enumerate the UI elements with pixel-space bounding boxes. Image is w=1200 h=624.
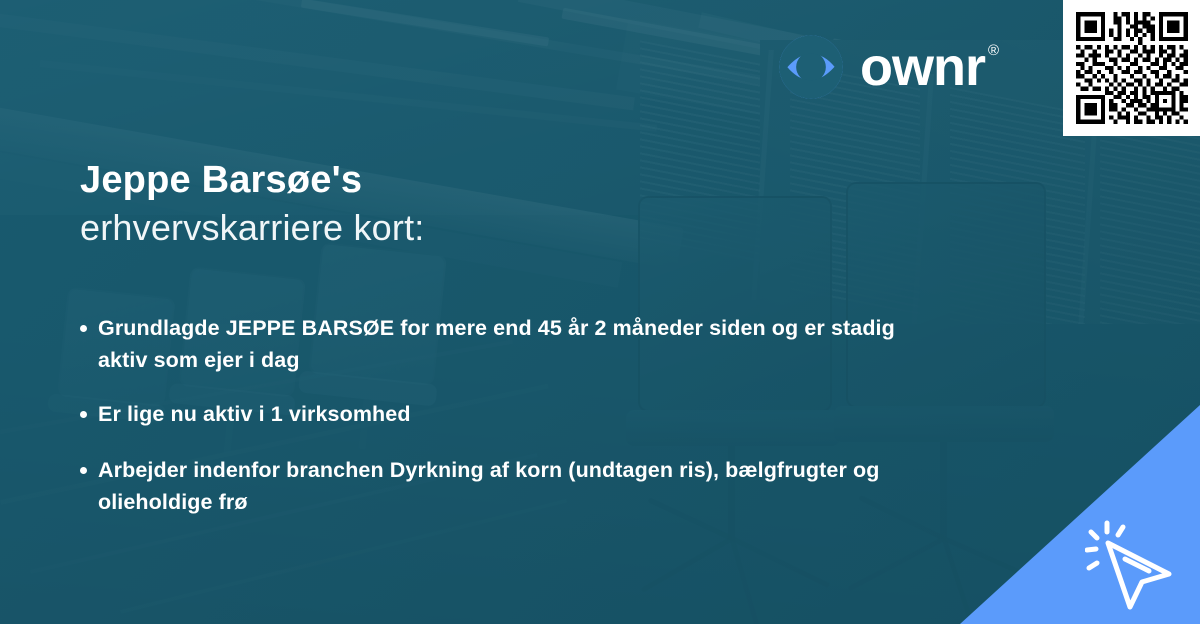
qr-code-icon	[1072, 8, 1192, 128]
business-card-banner: ownr ®	[0, 0, 1200, 624]
bullet-dot-icon	[80, 467, 87, 474]
click-cursor-icon	[1085, 512, 1193, 620]
title-line-1: Jeppe Barsøe's	[80, 156, 860, 204]
title-line-2: erhvervskarriere kort:	[80, 204, 860, 252]
list-item-label: Grundlagde JEPPE BARSØE for mere end 45 …	[98, 312, 928, 376]
ownr-swirl-circle-icon	[778, 34, 844, 100]
list-item-label: Arbejder indenfor branchen Dyrkning af k…	[98, 454, 928, 518]
page-title: Jeppe Barsøe's erhvervskarriere kort:	[80, 156, 860, 252]
career-summary-list: Grundlagde JEPPE BARSØE for mere end 45 …	[80, 312, 960, 540]
ownr-logo[interactable]: ownr ®	[778, 34, 999, 100]
list-item: Arbejder indenfor branchen Dyrkning af k…	[80, 454, 960, 518]
list-item: Grundlagde JEPPE BARSØE for mere end 45 …	[80, 312, 960, 376]
bullet-dot-icon	[80, 325, 87, 332]
registered-trademark-icon: ®	[988, 41, 999, 61]
bullet-dot-icon	[80, 411, 87, 418]
qr-code[interactable]	[1063, 0, 1200, 136]
list-item: Er lige nu aktiv i 1 virksomhed	[80, 398, 960, 430]
list-item-label: Er lige nu aktiv i 1 virksomhed	[98, 398, 411, 430]
ownr-wordmark: ownr ®	[860, 39, 999, 95]
brand-name: ownr	[860, 39, 985, 95]
